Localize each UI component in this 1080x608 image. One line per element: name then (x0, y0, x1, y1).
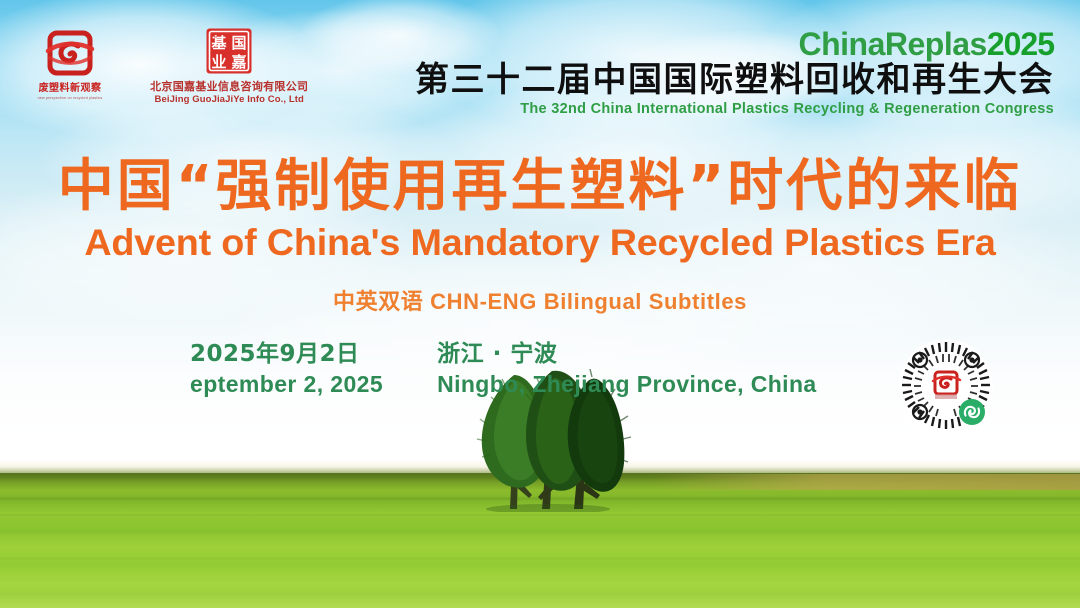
svg-text:业: 业 (212, 53, 227, 71)
svg-text:嘉: 嘉 (231, 53, 247, 71)
wechat-miniprogram-qr-icon[interactable] (898, 338, 994, 434)
logo-cn-name: 废塑料新观察 (39, 84, 102, 94)
sponsor-logo-row: 废塑料新观察 new perspective on recycled plast… (34, 27, 308, 106)
svg-text:基: 基 (211, 34, 228, 52)
event-info-row: 2025年9月2日 eptember 2, 2025 浙江 · 宁波 Ningb… (190, 340, 817, 398)
svg-text:国: 国 (232, 34, 247, 52)
field-warm-strip (650, 474, 1080, 490)
headline-block: 中国“强制使用再生塑料”时代的来临 Advent of China's Mand… (0, 158, 1080, 263)
headline-en: Advent of China's Mandatory Recycled Pla… (0, 223, 1080, 264)
brand-year-text: 2025 (987, 26, 1054, 62)
brand-china-text: China (798, 26, 884, 62)
poster-root: 废塑料新观察 new perspective on recycled plast… (0, 0, 1080, 608)
event-date-en: eptember 2, 2025 (190, 370, 383, 398)
event-location: 浙江 · 宁波 Ningbo, Zhejiang Province, China (437, 340, 817, 398)
event-location-en: Ningbo, Zhejiang Province, China (437, 370, 817, 398)
headline-cn: 中国“强制使用再生塑料”时代的来临 (0, 158, 1080, 217)
logo-cn-name: 北京国嘉基业信息咨询有限公司 (150, 81, 308, 93)
logo-en-name: new perspective on recycled plastics (38, 96, 103, 100)
event-brand-lockup: ChinaReplas2025 (415, 28, 1054, 60)
logo-waisuliao[interactable]: 废塑料新观察 new perspective on recycled plast… (34, 27, 106, 100)
bilingual-subtitle: 中英双语 CHN-ENG Bilingual Subtitles (0, 284, 1080, 316)
event-title-cn: 第三十二届中国国际塑料回收和再生大会 (415, 62, 1054, 99)
event-date: 2025年9月2日 eptember 2, 2025 (190, 340, 383, 398)
event-location-cn: 浙江 · 宁波 (437, 340, 817, 368)
seal-stamp-logo-icon: 基 国 业 嘉 (205, 27, 253, 75)
wechat-miniprogram-badge-icon (959, 399, 985, 425)
logo-guojiajiye[interactable]: 基 国 业 嘉 北京国嘉基业信息咨询有限公司 BeiJing GuoJiaJiY… (150, 27, 308, 106)
logo-en-name: BeiJing GuoJiaJiYe Info Co., Ltd (155, 95, 304, 105)
bilingual-cn: 中英双语 (333, 290, 423, 315)
event-header: ChinaReplas2025 第三十二届中国国际塑料回收和再生大会 The 3… (415, 28, 1054, 118)
event-date-cn: 2025年9月2日 (190, 340, 383, 368)
brand-replas-text: Replas (885, 26, 987, 62)
swirl-square-logo-icon (44, 27, 96, 79)
event-title-en: The 32nd China International Plastics Re… (415, 102, 1054, 118)
bilingual-en: CHN-ENG Bilingual Subtitles (430, 289, 747, 314)
